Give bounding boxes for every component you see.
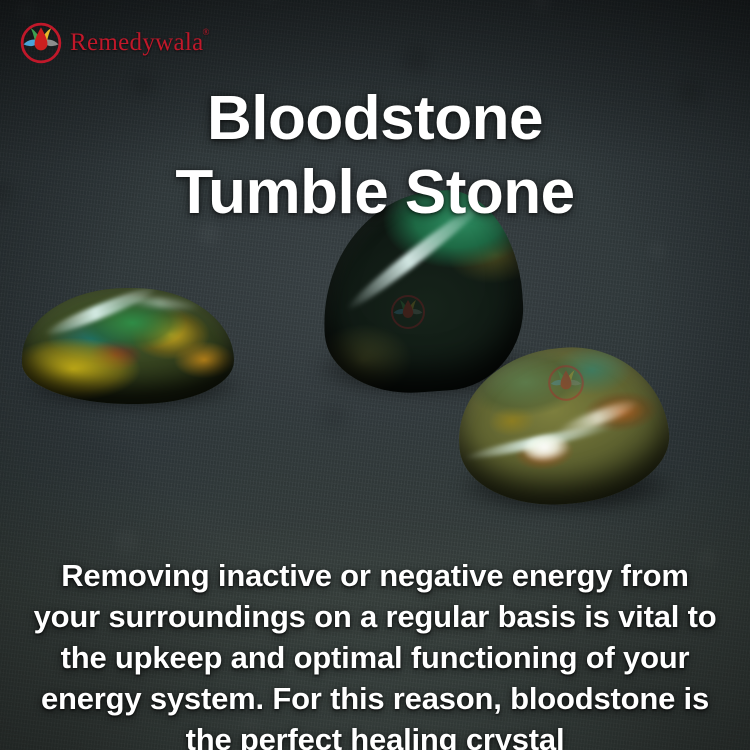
stone-left	[22, 288, 234, 404]
title-line-1: Bloodstone	[0, 82, 750, 156]
stone-right-highlight-2	[554, 396, 641, 441]
description-line: the upkeep and optimal functioning of yo…	[28, 637, 722, 678]
description-line: energy system. For this reason, bloodsto…	[28, 678, 722, 719]
brand-name: Remedywala®	[70, 29, 211, 57]
brand-logo[interactable]: Remedywala®	[18, 20, 211, 66]
description-line: your surroundings on a regular basis is …	[28, 596, 722, 637]
registered-mark: ®	[203, 27, 210, 37]
description-text: Removing inactive or negative energy fro…	[28, 555, 722, 750]
description-line: Removing inactive or negative energy fro…	[28, 555, 722, 596]
description-line: the perfect healing crystal	[28, 719, 722, 750]
stone-left-highlight-2	[118, 294, 203, 313]
brand-name-text: Remedywala	[70, 29, 204, 56]
stone-right	[458, 348, 668, 504]
title-line-2: Tumble Stone	[0, 156, 750, 230]
remedywala-lotus-droplet-logo-icon	[18, 20, 64, 66]
stone-left-body	[22, 288, 234, 404]
bloodstone-poster: Remedywala® Bloodstone Tumble Stone Remo…	[0, 0, 750, 750]
page-title: Bloodstone Tumble Stone	[0, 82, 750, 230]
